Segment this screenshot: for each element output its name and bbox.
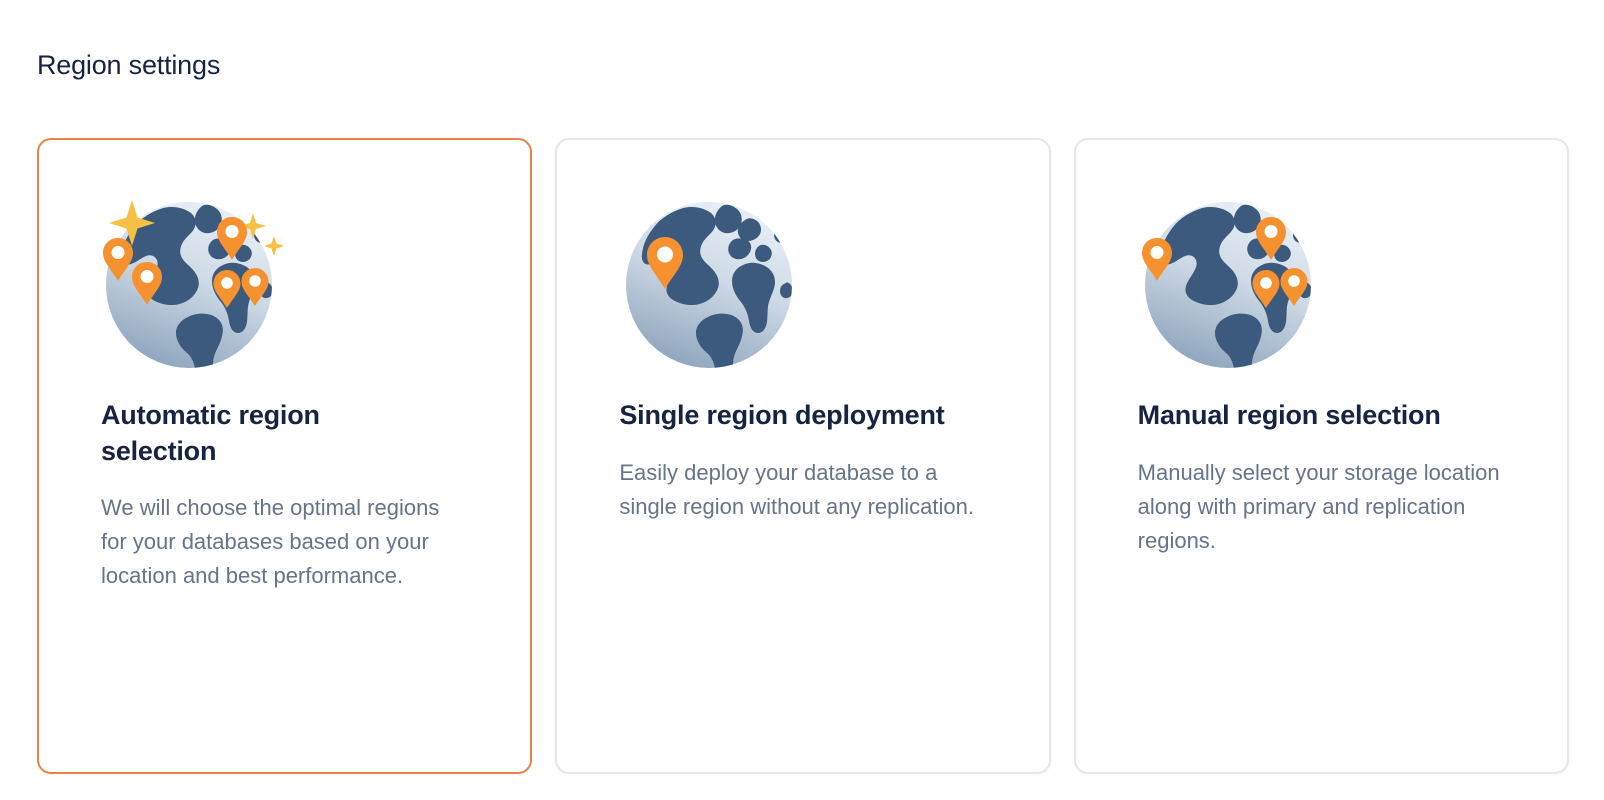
sparkle-icon-small [264,236,284,256]
card-description: Easily deploy your database to a single … [619,456,979,524]
card-title: Automatic region selection [101,398,431,469]
region-option-card-automatic[interactable]: Automatic region selection We will choos… [37,138,532,774]
region-settings-page: Region settings [0,0,1604,800]
globe-with-pins-and-sparkles-illustration [101,192,277,368]
page-title: Region settings [37,49,220,81]
region-option-card-single[interactable]: Single region deployment Easily deploy y… [555,138,1050,774]
region-option-card-manual[interactable]: Manual region selection Manually select … [1074,138,1569,774]
region-option-card-list: Automatic region selection We will choos… [37,138,1569,774]
globe-with-pins-illustration [1140,192,1316,368]
card-description: Manually select your storage location al… [1138,456,1505,558]
globe-with-single-pin-illustration [621,192,797,368]
card-description: We will choose the optimal regions for y… [101,491,468,593]
card-title: Single region deployment [619,398,949,434]
card-title: Manual region selection [1138,398,1468,434]
